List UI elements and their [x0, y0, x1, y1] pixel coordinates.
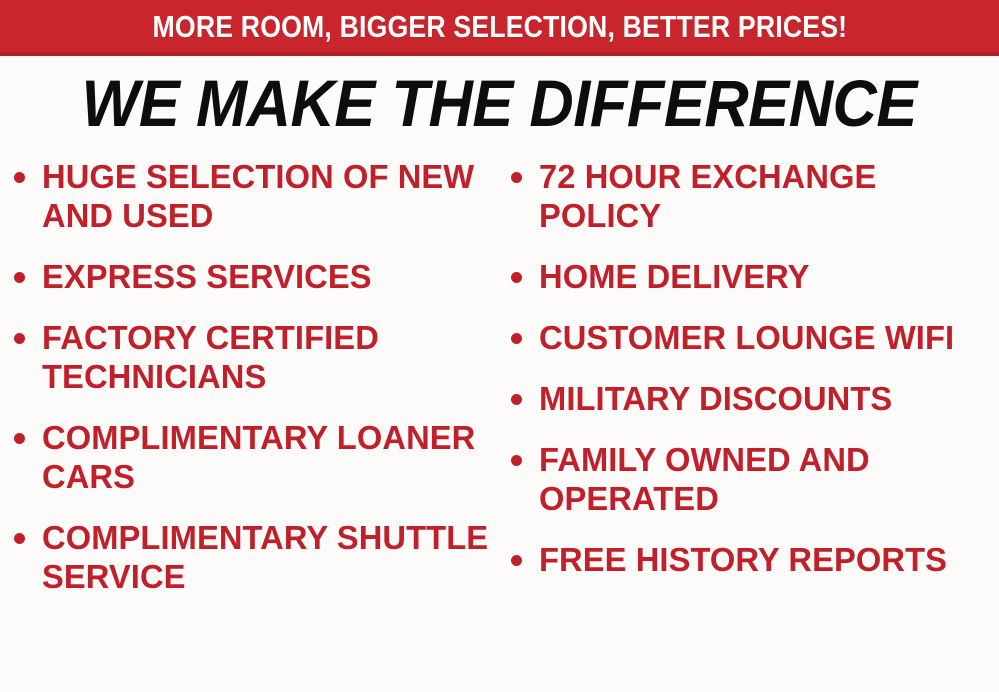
bullet-dot-icon: [511, 555, 522, 566]
benefits-column-left: HUGE SELECTION OF NEW AND USED EXPRESS S…: [14, 158, 500, 692]
bullet-dot-icon: [14, 433, 25, 444]
list-item: EXPRESS SERVICES: [14, 258, 500, 297]
list-item: MILITARY DISCOUNTS: [511, 380, 999, 419]
bullet-dot-icon: [14, 533, 25, 544]
list-item-label: EXPRESS SERVICES: [42, 258, 495, 297]
list-item: HOME DELIVERY: [511, 258, 999, 297]
list-item-label: FREE HISTORY REPORTS: [539, 541, 994, 580]
list-item: CUSTOMER LOUNGE WIFI: [511, 319, 999, 358]
dealership-benefits-banner: MORE ROOM, BIGGER SELECTION, BETTER PRIC…: [0, 0, 999, 692]
list-item-label: HOME DELIVERY: [539, 258, 994, 297]
promo-band: MORE ROOM, BIGGER SELECTION, BETTER PRIC…: [0, 0, 999, 52]
list-item: HUGE SELECTION OF NEW AND USED: [14, 158, 500, 236]
bullet-dot-icon: [511, 272, 522, 283]
list-item: FREE HISTORY REPORTS: [511, 541, 999, 580]
list-item: FACTORY CERTIFIED TECHNICIANS: [14, 319, 500, 397]
list-item-label: COMPLIMENTARY SHUTTLE SERVICE: [42, 519, 495, 597]
list-item-label: 72 HOUR EXCHANGE POLICY: [539, 158, 994, 236]
list-item-label: COMPLIMENTARY LOANER CARS: [42, 419, 495, 497]
bullet-dot-icon: [14, 333, 25, 344]
benefits-column-right: 72 HOUR EXCHANGE POLICY HOME DELIVERY CU…: [511, 158, 999, 692]
bullet-dot-icon: [511, 394, 522, 405]
list-item-label: FACTORY CERTIFIED TECHNICIANS: [42, 319, 495, 397]
list-item-label: HUGE SELECTION OF NEW AND USED: [42, 158, 495, 236]
list-item: 72 HOUR EXCHANGE POLICY: [511, 158, 999, 236]
bullet-dot-icon: [511, 333, 522, 344]
bullet-dot-icon: [511, 455, 522, 466]
list-item: FAMILY OWNED AND OPERATED: [511, 441, 999, 519]
headline-container: WE MAKE THE DIFFERENCE: [0, 68, 999, 138]
promo-band-text: MORE ROOM, BIGGER SELECTION, BETTER PRIC…: [152, 11, 847, 42]
bullet-dot-icon: [14, 172, 25, 183]
list-item: COMPLIMENTARY SHUTTLE SERVICE: [14, 519, 500, 597]
bullet-dot-icon: [14, 272, 25, 283]
bullet-dot-icon: [511, 172, 522, 183]
list-item-label: CUSTOMER LOUNGE WIFI: [539, 319, 994, 358]
list-item-label: FAMILY OWNED AND OPERATED: [539, 441, 994, 519]
promo-band-underline: [0, 52, 999, 56]
page-title: WE MAKE THE DIFFERENCE: [82, 70, 917, 136]
list-item: COMPLIMENTARY LOANER CARS: [14, 419, 500, 497]
list-item-label: MILITARY DISCOUNTS: [539, 380, 994, 419]
benefits-columns: HUGE SELECTION OF NEW AND USED EXPRESS S…: [0, 158, 999, 692]
